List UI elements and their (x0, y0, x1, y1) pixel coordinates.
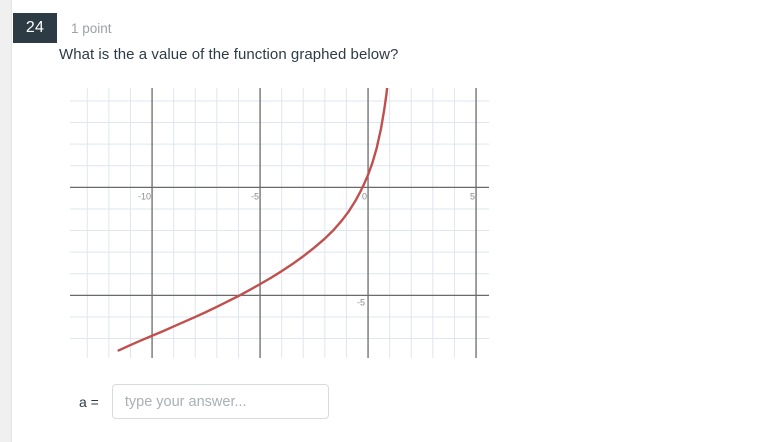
question-points-label: 1 point (71, 21, 112, 36)
answer-variable-label: a = (79, 394, 99, 410)
svg-text:-5: -5 (251, 191, 259, 201)
function-graph: -10-505-5 (70, 88, 489, 358)
svg-text:5: 5 (470, 191, 475, 201)
svg-text:-5: -5 (357, 297, 365, 307)
question-header: 24 1 point (13, 13, 112, 43)
answer-row: a = (79, 384, 329, 419)
question-prompt-text: What is the a value of the function grap… (59, 46, 398, 63)
question-card: 24 1 point What is the a value of the fu… (13, 0, 781, 442)
left-edge-strip (0, 0, 12, 442)
answer-input[interactable] (112, 384, 329, 419)
minor-gridlines (70, 88, 489, 358)
graph-svg: -10-505-5 (70, 88, 489, 358)
curve-path (119, 88, 390, 350)
svg-text:-10: -10 (138, 191, 151, 201)
svg-text:0: 0 (362, 191, 367, 201)
question-number-badge: 24 (13, 13, 57, 43)
major-gridlines (70, 88, 489, 358)
